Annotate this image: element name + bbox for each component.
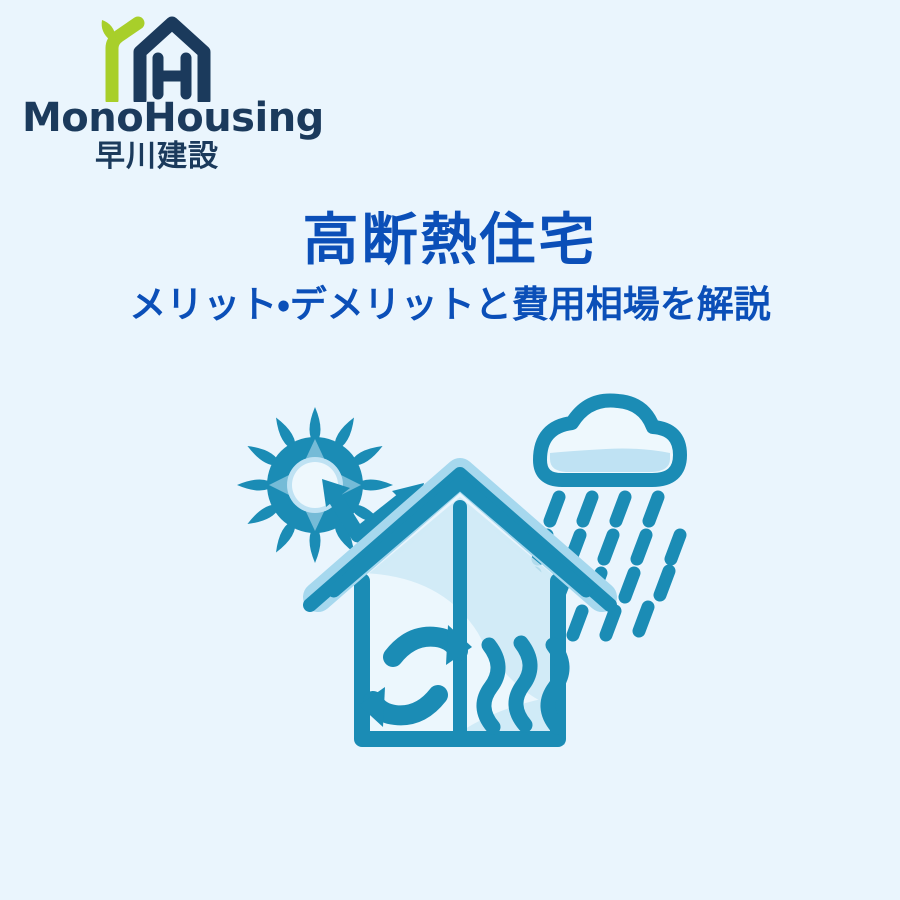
logo-company-name-ja: 早川建設 bbox=[22, 142, 292, 172]
thumbnail-canvas: MonoHousing 早川建設 高断熱住宅 メリット・デメリットと費用相場を解… bbox=[0, 0, 900, 900]
title-group: 高断熱住宅 メリット・デメリットと費用相場を解説 bbox=[0, 212, 900, 325]
house-icon bbox=[310, 473, 610, 747]
house-with-leaf-icon bbox=[88, 14, 218, 102]
page-subtitle: メリット・デメリットと費用相場を解説 bbox=[0, 285, 900, 326]
rain-cloud-icon bbox=[540, 400, 680, 480]
page-title: 高断熱住宅 bbox=[0, 212, 900, 271]
logo-wordmark: MonoHousing bbox=[22, 98, 292, 138]
insulated-house-illustration bbox=[210, 375, 710, 785]
company-logo[interactable]: MonoHousing 早川建設 bbox=[22, 14, 292, 174]
